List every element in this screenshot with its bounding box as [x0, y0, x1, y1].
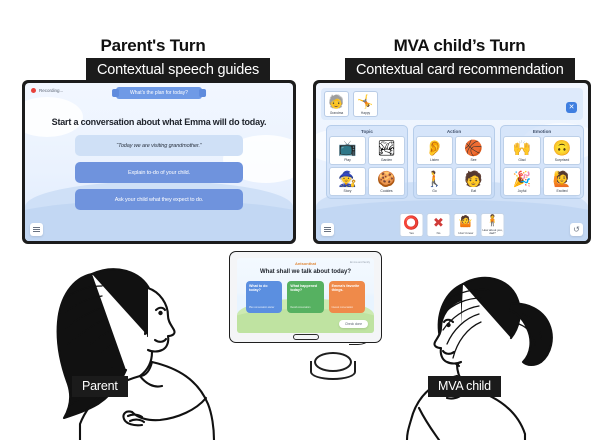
refresh-icon[interactable]: ↺: [570, 223, 583, 236]
card-eat[interactable]: 🧑 Eat: [455, 167, 492, 196]
surprised-icon: 🙃: [553, 137, 572, 159]
card-label: Play: [344, 159, 351, 162]
card-label: Excited: [556, 190, 567, 193]
quick-reply-label: I don't know: [458, 232, 473, 235]
parent-tablet: Recording... What's the plan for today? …: [22, 80, 296, 244]
topic-card-favorite-things[interactable]: Emma's favorite things. Interest convers…: [329, 281, 365, 313]
cookies-icon: 🍪: [377, 168, 396, 190]
topic-card-title: Emma's favorite things.: [332, 284, 362, 292]
child-illustration: [405, 244, 585, 440]
card-glad[interactable]: 🙌 Glad: [503, 136, 541, 165]
topic-card-row: What to do today? Plan conversation star…: [246, 281, 365, 313]
card-see[interactable]: 🏀 See: [455, 136, 492, 165]
topic-card-what-happened-today[interactable]: What happened today? Recall conversation: [287, 281, 323, 313]
category-title: Topic: [329, 128, 405, 136]
name-tag-parent: Parent: [72, 376, 128, 397]
topic-card-title: What to do today?: [249, 284, 279, 292]
go-icon: 🚶: [425, 168, 444, 190]
selected-card-label: Grandma: [330, 112, 343, 115]
card-label: Garden: [381, 159, 392, 162]
quick-reply-label: How about you, dad?: [482, 229, 504, 235]
topic-card-subtitle: Plan conversation starter: [249, 307, 279, 310]
quick-reply-yes[interactable]: ⭕ Yes: [400, 213, 424, 237]
joyful-icon: 🎉: [513, 168, 532, 190]
card-joyful[interactable]: 🎉 Joyful: [503, 167, 541, 196]
selected-card-grandma[interactable]: 🧓 Grandma: [324, 91, 349, 117]
card-play[interactable]: 📺 Play: [329, 136, 366, 165]
quick-reply-i-dont-know[interactable]: 🤷 I don't know: [454, 213, 478, 237]
category-panel-action: Action 👂 Listen 🏀 See 🚶 Go: [413, 125, 495, 199]
quick-reply-no[interactable]: ✖ No: [427, 213, 451, 237]
category-title: Action: [416, 128, 492, 136]
category-panel-emotion: Emotion 🙌 Glad 🙃 Surprised 🎉 Joyful: [500, 125, 584, 199]
quick-reply-label: Yes: [409, 232, 414, 235]
card-story[interactable]: 🧙 Story: [329, 167, 366, 196]
child-tablet: 🧓 Grandma 🤸 Happy ✕ Topic 📺 Play: [313, 80, 591, 244]
category-title: Emotion: [503, 128, 581, 136]
category-panel-topic: Topic 📺 Play 🏞 Garden 🧙 Story: [326, 125, 408, 199]
excited-icon: 🙋: [553, 168, 572, 190]
play-icon: 📺: [338, 137, 357, 159]
card-surprised[interactable]: 🙃 Surprised: [543, 136, 581, 165]
card-go[interactable]: 🚶 Go: [416, 167, 453, 196]
right-column-title: MVA child’s Turn: [306, 36, 613, 56]
card-label: Story: [344, 190, 352, 193]
app-meta: Emma and family: [350, 261, 370, 264]
name-tag-child: MVA child: [428, 376, 501, 397]
happy-icon: 🤸: [357, 92, 373, 112]
left-column-title: Parent's Turn: [0, 36, 306, 56]
card-label: Joyful: [518, 190, 527, 193]
card-listen[interactable]: 👂 Listen: [416, 136, 453, 165]
center-tablet: Antsonthat Emma and family What shall we…: [229, 251, 382, 343]
quick-reply-row: ⭕ Yes ✖ No 🤷 I don't know 🧍 How about yo…: [400, 213, 505, 237]
center-tablet-screen: Antsonthat Emma and family What shall we…: [237, 258, 374, 333]
speaker-puck: [310, 352, 352, 378]
card-cookies[interactable]: 🍪 Cookies: [368, 167, 405, 196]
child-tablet-screen: 🧓 Grandma 🤸 Happy ✕ Topic 📺 Play: [316, 83, 588, 241]
parent-illustration: [28, 228, 243, 440]
selected-card-strip: 🧓 Grandma 🤸 Happy ✕: [321, 88, 583, 120]
quick-reply-label: No: [437, 232, 441, 235]
hamburger-menu-icon[interactable]: [321, 223, 334, 236]
eat-icon: 🧑: [464, 168, 483, 190]
card-label: Eat: [471, 190, 476, 193]
speech-guide-quote[interactable]: “Today we are visiting grandmother.”: [75, 135, 243, 156]
no-cross-icon: ✖: [433, 214, 444, 232]
recording-label: Recording...: [39, 88, 63, 93]
card-excited[interactable]: 🙋 Excited: [543, 167, 581, 196]
recording-dot-icon: [31, 88, 36, 93]
see-icon: 🏀: [464, 137, 483, 159]
card-label: Go: [432, 190, 437, 193]
center-question: What shall we talk about today?: [237, 269, 374, 275]
speech-guide-action-1[interactable]: Explain to-do of your child.: [75, 162, 243, 183]
garden-icon: 🏞: [377, 137, 396, 159]
card-label: Cookies: [380, 190, 392, 193]
card-garden[interactable]: 🏞 Garden: [368, 136, 405, 165]
selected-card-happy[interactable]: 🤸 Happy: [353, 91, 378, 117]
card-label: Surprised: [555, 159, 570, 162]
story-icon: 🧙: [338, 168, 357, 190]
recording-indicator: Recording...: [31, 88, 63, 93]
selected-card-label: Happy: [361, 112, 370, 115]
home-indicator: [293, 334, 319, 340]
topic-card-subtitle: Interest conversation: [332, 307, 362, 310]
topic-card-what-to-do-today[interactable]: What to do today? Plan conversation star…: [246, 281, 282, 313]
parent-tablet-screen: Recording... What's the plan for today? …: [25, 83, 293, 241]
grandma-icon: 🧓: [328, 92, 344, 112]
card-label: Listen: [430, 159, 439, 162]
person-standing-icon: 🧍: [486, 214, 500, 229]
topic-card-subtitle: Recall conversation: [290, 307, 320, 310]
quick-reply-how-about-you[interactable]: 🧍 How about you, dad?: [481, 213, 505, 237]
speech-guide-action-2[interactable]: Ask your child what they expect to do.: [75, 189, 243, 210]
yes-circle-icon: ⭕: [403, 214, 419, 232]
close-icon[interactable]: ✕: [566, 102, 577, 113]
card-label: Glad: [518, 159, 525, 162]
card-label: See: [470, 159, 476, 162]
listen-icon: 👂: [425, 137, 444, 159]
check-done-button[interactable]: Check done: [339, 320, 368, 328]
glad-icon: 🙌: [513, 137, 532, 159]
parent-lead-text: Start a conversation about what Emma wil…: [25, 117, 293, 127]
prompt-ribbon: What's the plan for today?: [116, 87, 202, 99]
figure-canvas: Parent's Turn Contextual speech guides M…: [0, 0, 613, 440]
shrug-icon: 🤷: [459, 214, 473, 232]
topic-card-title: What happened today?: [290, 284, 320, 292]
